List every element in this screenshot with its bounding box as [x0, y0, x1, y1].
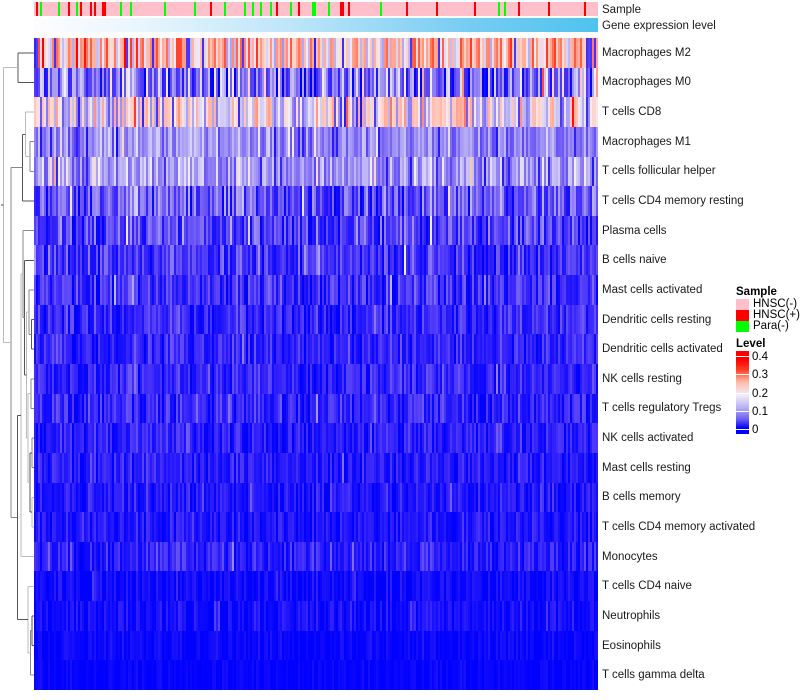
row-label: Dendritic cells resting	[602, 314, 711, 326]
heatmap-row	[34, 38, 598, 68]
heatmap-row	[34, 245, 598, 275]
heatmap-row	[34, 216, 598, 246]
heatmap-row	[34, 275, 598, 305]
row-label: B cells naive	[602, 254, 667, 266]
sample-annotation-bar	[34, 2, 598, 16]
heatmap-row	[34, 127, 598, 157]
row-label: B cells memory	[602, 491, 681, 503]
row-label: NK cells activated	[602, 432, 693, 444]
legend-panel: Sample HNSC(-) HNSC(+) Para(-) Level 0.4…	[736, 286, 800, 434]
row-label: NK cells resting	[602, 373, 682, 385]
legend-label-para-negative: Para(-)	[753, 321, 789, 332]
level-tick-label: 0.4	[752, 352, 768, 363]
row-label: Plasma cells	[602, 225, 667, 237]
heatmap-row	[34, 453, 598, 483]
level-tick-dash	[736, 356, 749, 357]
heatmap-row	[34, 68, 598, 98]
row-label: T cells gamma delta	[602, 669, 705, 681]
heatmap-row	[34, 97, 598, 127]
level-tick-dash	[736, 411, 749, 412]
level-colorbar-legend: Level 0.40.30.20.10	[736, 338, 800, 434]
legend-swatch-para-negative	[736, 321, 749, 332]
level-tick-label: 0.1	[752, 407, 768, 418]
heatmap-row	[34, 394, 598, 424]
row-label: Macrophages M0	[602, 76, 691, 88]
sample-annotation-canvas	[34, 2, 598, 16]
level-tick-dash	[736, 429, 749, 430]
heatmap-row	[34, 186, 598, 216]
figure-root: Sample Gene expression level Macrophages…	[0, 0, 800, 700]
legend-swatch-hnsc-negative	[736, 299, 749, 310]
level-colorbar-wrap: 0.40.30.20.10	[736, 351, 800, 434]
row-label: Macrophages M1	[602, 136, 691, 148]
row-dendrogram	[0, 38, 34, 690]
heatmap-row	[34, 512, 598, 542]
sample-legend-title: Sample	[736, 286, 800, 298]
row-label: Macrophages M2	[602, 47, 691, 59]
row-label: Monocytes	[602, 551, 658, 563]
heatmap-row	[34, 601, 598, 631]
heatmap-row	[34, 631, 598, 661]
level-tick-label: 0.2	[752, 389, 768, 400]
row-label: Eosinophils	[602, 640, 661, 652]
row-label: T cells CD4 memory activated	[602, 521, 755, 533]
gene-expression-annotation-label: Gene expression level	[602, 20, 716, 32]
level-tick-label: 0.3	[752, 370, 768, 381]
row-label: T cells CD8	[602, 106, 661, 118]
heatmap-row	[34, 660, 598, 690]
row-label: Neutrophils	[602, 610, 660, 622]
row-label: T cells regulatory Tregs	[602, 402, 721, 414]
sample-annotation-label: Sample	[602, 4, 641, 16]
heatmap-row	[34, 571, 598, 601]
heatmap-row	[34, 423, 598, 453]
level-tick-label: 0	[752, 425, 758, 436]
heatmap-row	[34, 157, 598, 187]
heatmap-row	[34, 305, 598, 335]
row-label: Dendritic cells activated	[602, 343, 723, 355]
heatmap-row	[34, 483, 598, 513]
level-legend-title: Level	[736, 338, 800, 350]
heatmap-body	[34, 38, 598, 690]
legend-item-para-negative: Para(-)	[736, 321, 800, 332]
level-tick-dash	[736, 393, 749, 394]
row-label: T cells follicular helper	[602, 165, 716, 177]
row-label: Mast cells resting	[602, 462, 691, 474]
level-tick-dash	[736, 374, 749, 375]
gene-expression-annotation-bar	[34, 18, 598, 32]
row-label: T cells CD4 memory resting	[602, 195, 744, 207]
legend-swatch-hnsc-positive	[736, 310, 749, 321]
row-label: Mast cells activated	[602, 284, 702, 296]
heatmap-row	[34, 364, 598, 394]
row-label: T cells CD4 naive	[602, 580, 692, 592]
heatmap-row	[34, 334, 598, 364]
heatmap-row	[34, 542, 598, 572]
